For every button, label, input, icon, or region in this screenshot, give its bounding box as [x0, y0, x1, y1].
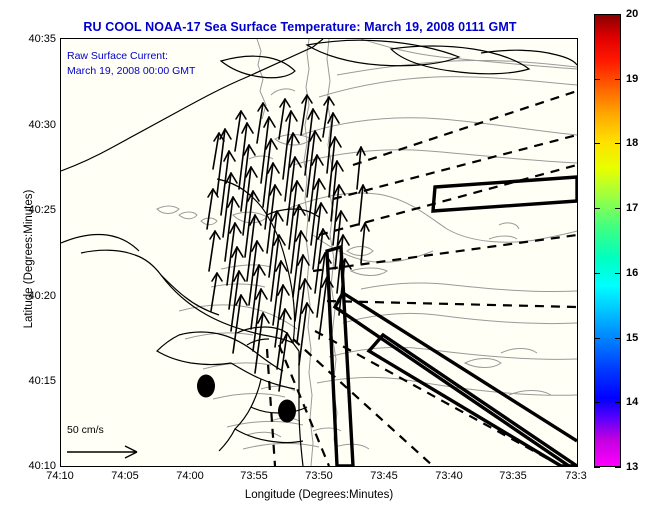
colorbar: [594, 14, 621, 467]
colorbar-tick-label: 18: [626, 137, 638, 149]
colorbar-tick-label: 13: [626, 461, 638, 473]
xtick-label: 73:40: [435, 470, 463, 482]
colorbar-tick: [594, 79, 600, 80]
colorbar-tick: [615, 79, 621, 80]
right-arrow-icon: [65, 444, 149, 460]
annotation-line-2: March 19, 2008 00:00 GMT: [67, 64, 195, 79]
scale-legend: 50 cm/s: [61, 424, 187, 466]
colorbar-tick: [615, 467, 621, 468]
colorbar-tick-label: 15: [626, 332, 638, 344]
ytick-label: 40:10: [28, 460, 56, 472]
map-plot-area[interactable]: Raw Surface Current: March 19, 2008 00:0…: [60, 38, 578, 467]
colorbar-tick: [594, 338, 600, 339]
xtick-label: 73:55: [240, 470, 268, 482]
colorbar-tick: [594, 208, 600, 209]
colorbar-tick: [615, 273, 621, 274]
colorbar-tick: [594, 467, 600, 468]
colorbar-tick: [594, 273, 600, 274]
coastline: [61, 39, 577, 466]
colorbar-tick-label: 16: [626, 267, 638, 279]
colorbar-tick: [615, 402, 621, 403]
colorbar-tick-label: 19: [626, 73, 638, 85]
colorbar-tick: [594, 402, 600, 403]
map-graphics: [61, 39, 577, 466]
y-axis-label: Latitude (Degrees:Minutes): [23, 144, 35, 374]
colorbar-tick: [615, 14, 621, 15]
xtick-label: 74:00: [176, 470, 204, 482]
colorbar-tick-label: 14: [626, 396, 638, 408]
colorbar-tick: [594, 14, 600, 15]
xtick-label: 73:3: [565, 470, 586, 482]
xtick-label: 73:45: [370, 470, 398, 482]
colorbar-tick-label: 20: [626, 8, 638, 20]
colorbar-tick: [594, 143, 600, 144]
annotation-text: Raw Surface Current: March 19, 2008 00:0…: [67, 49, 195, 79]
shipping-lane-polygons: [327, 177, 577, 466]
ytick-label: 40:15: [28, 375, 56, 387]
xtick-label: 74:05: [111, 470, 139, 482]
scale-legend-label: 50 cm/s: [67, 424, 104, 436]
colorbar-tick: [615, 143, 621, 144]
xtick-label: 73:35: [499, 470, 527, 482]
figure-canvas: RU COOL NOAA-17 Sea Surface Temperature:…: [0, 0, 651, 518]
xtick-label: 73:50: [305, 470, 333, 482]
annotation-line-1: Raw Surface Current:: [67, 49, 195, 64]
page-title: RU COOL NOAA-17 Sea Surface Temperature:…: [0, 20, 600, 34]
colorbar-tick-label: 17: [626, 202, 638, 214]
colorbar-tick: [615, 338, 621, 339]
colorbar-tick: [615, 208, 621, 209]
x-axis-label: Longitude (Degrees:Minutes): [60, 489, 578, 501]
ytick-label: 40:35: [28, 33, 56, 45]
ytick-label: 40:30: [28, 119, 56, 131]
